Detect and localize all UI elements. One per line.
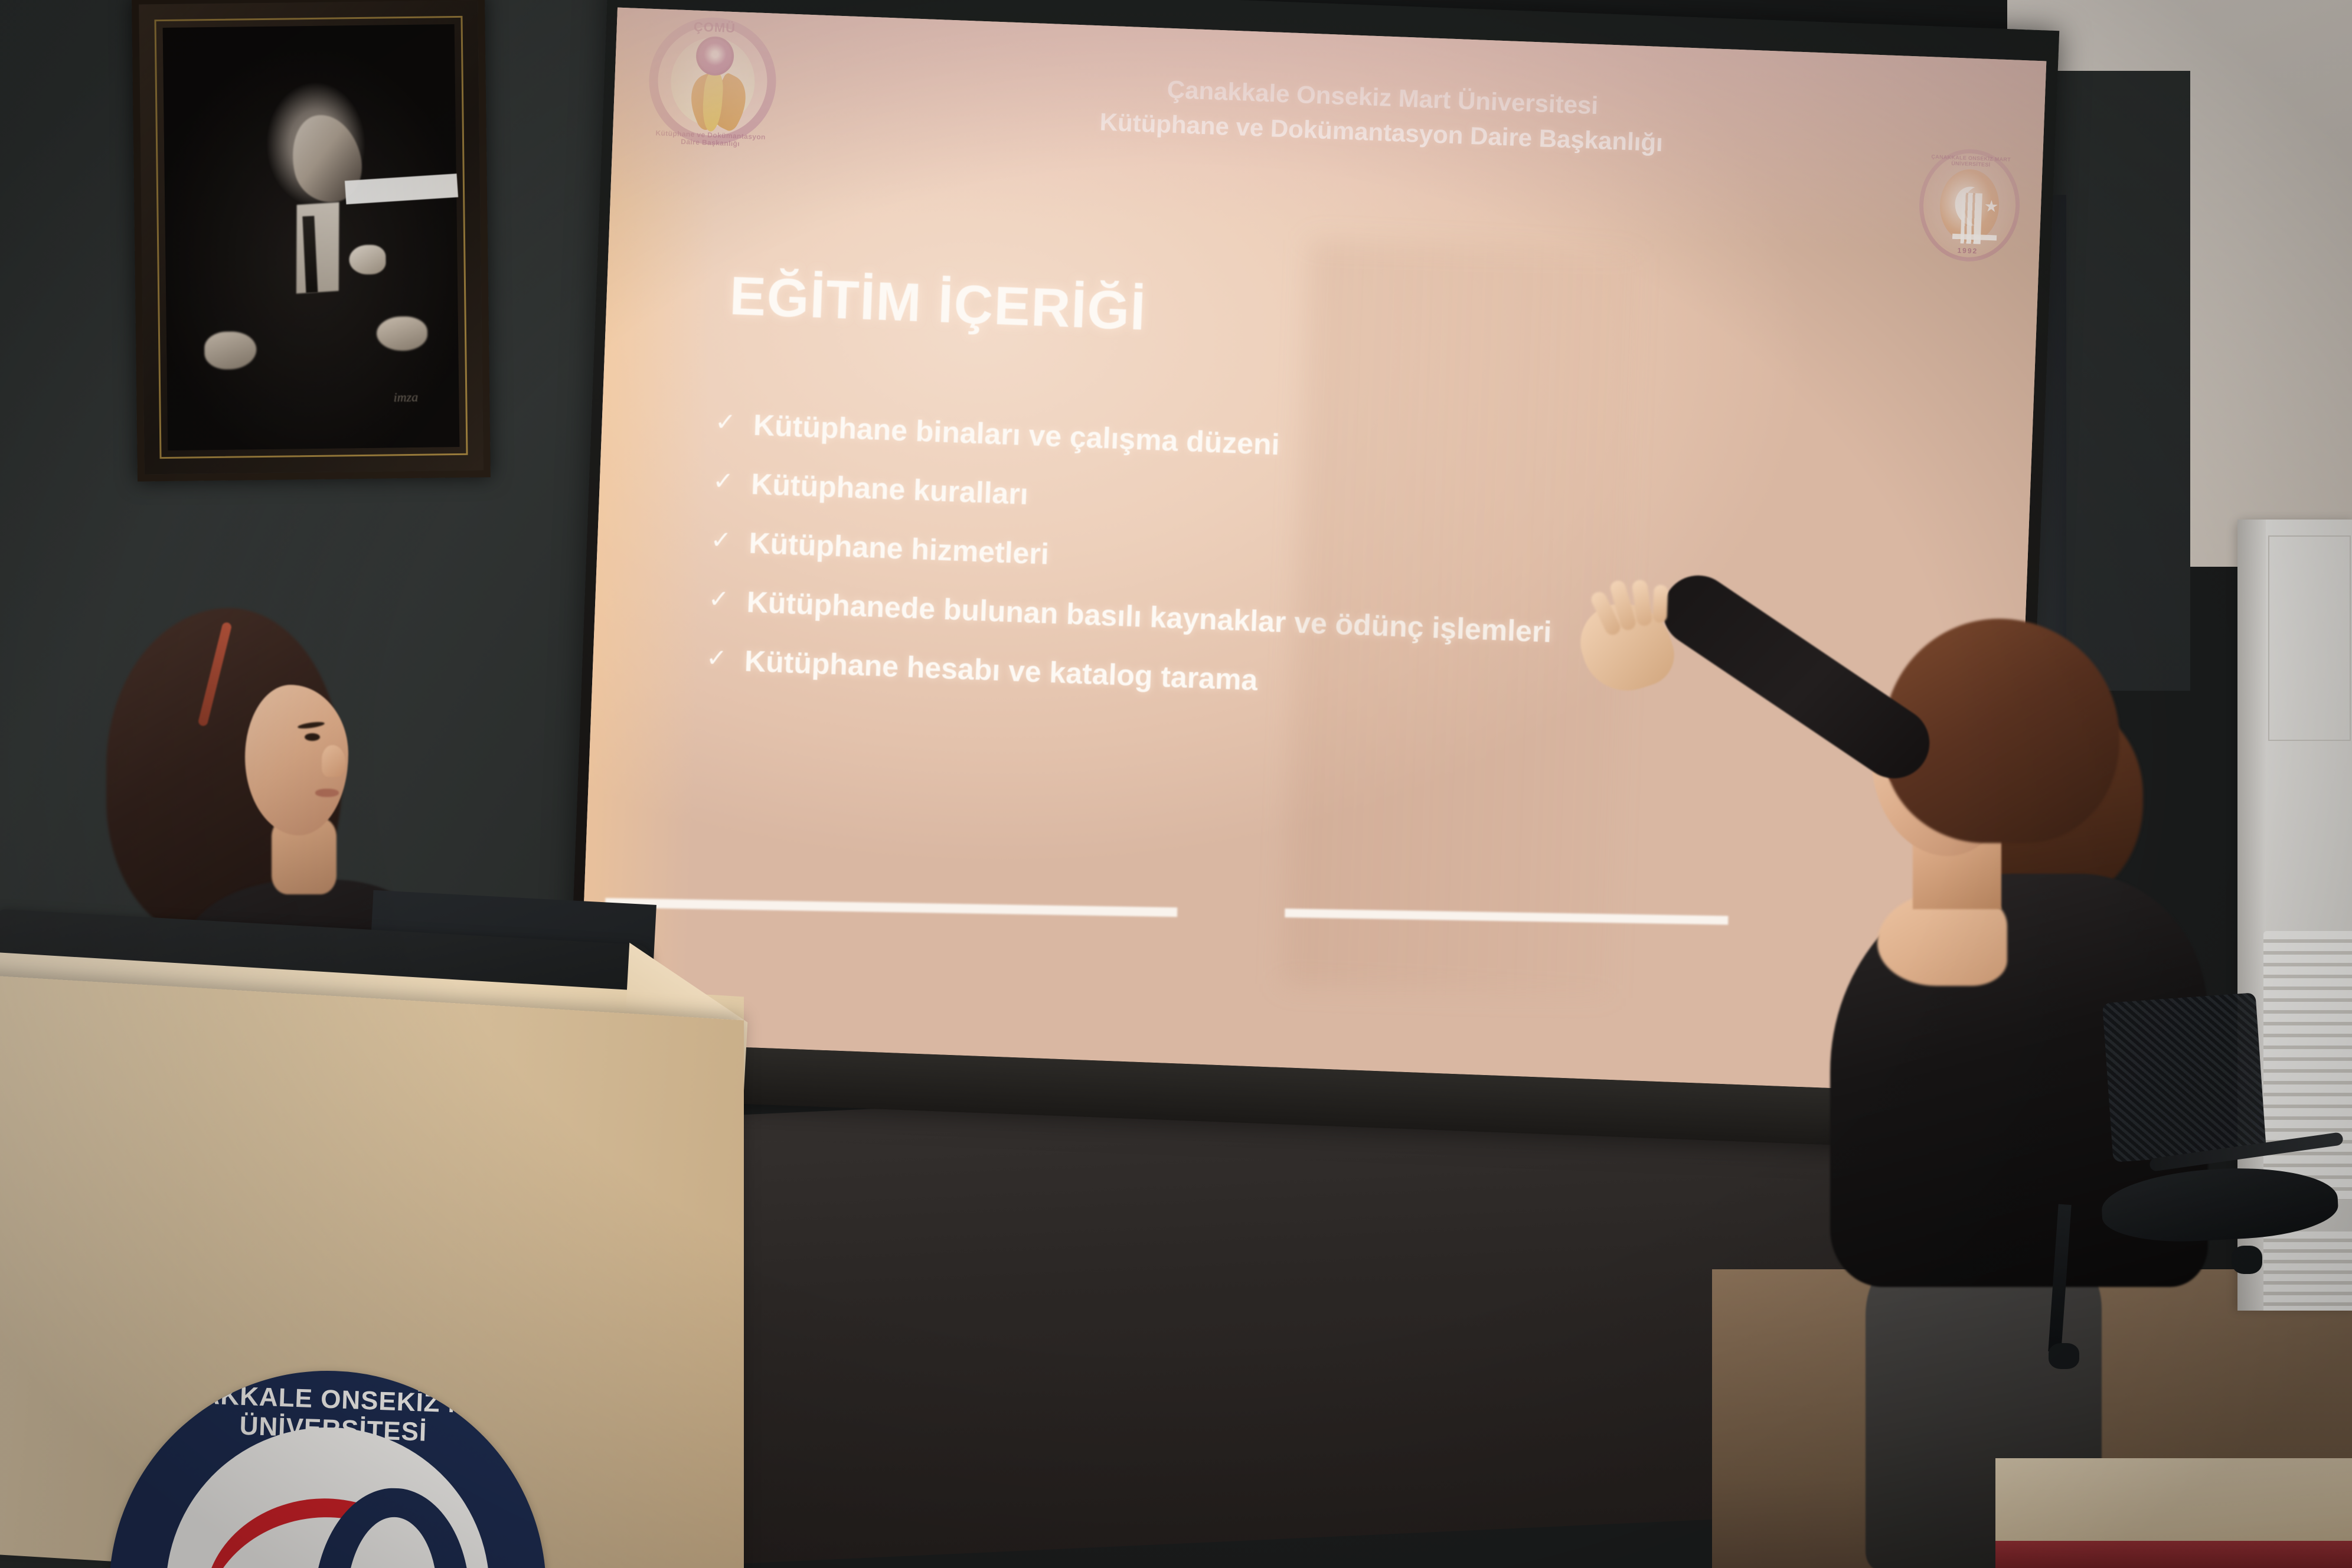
finger (1652, 584, 1668, 623)
portrait-signature: imza (393, 390, 418, 406)
portrait-glass-glare (345, 174, 458, 204)
logo-arc-text: Kütüphane ve Dokümantasyon Daire Başkanl… (647, 129, 775, 149)
checkmark-icon: ✓ (705, 642, 727, 674)
portrait-left-hand (204, 331, 257, 370)
department-logo: ÇOMÜ Kütüphane ve Dokümantasyon Daire Ba… (647, 15, 779, 146)
portrait-shirt (296, 202, 339, 293)
office-chair-back (2102, 992, 2266, 1162)
list-item-label: Kütüphane binaları ve çalışma düzeni (753, 408, 1280, 462)
list-item-label: Kütüphane kuralları (750, 467, 1028, 512)
checkmark-icon: ✓ (712, 466, 734, 498)
seal-year: 1992 (1922, 245, 2014, 257)
ataturk-portrait-frame: imza (132, 0, 491, 482)
list-item-label: Kütüphane hizmetleri (749, 526, 1050, 571)
list-item-label: Kütüphanede bulunan basılı kaynaklar ve … (746, 585, 1552, 649)
office-chair-caster (2232, 1246, 2262, 1274)
presenter-hand (1570, 590, 1682, 702)
portrait-right-hand (376, 316, 427, 351)
portrait-pipe (349, 245, 386, 275)
university-seal: ÇANAKKALE ONSEKİZ MART ÜNİVERSİTESİ 1992 (1917, 148, 2021, 263)
attendee-lips (315, 789, 339, 797)
seminar-room-photo: imza ÇOMÜ Kütüphane ve Dokümantasyon Dai… (0, 0, 2352, 1568)
side-table-edge (1995, 1541, 2352, 1568)
seal-arc-text: ÇANAKKALE ONSEKİZ MART ÜNİVERSİTESİ (1925, 153, 2017, 169)
ac-vent-grille (2263, 931, 2352, 1200)
checkmark-icon: ✓ (710, 524, 732, 556)
attendee-eye (305, 733, 320, 741)
slide-header: Çanakkale Onsekiz Mart Üniversitesi Kütü… (1099, 69, 1665, 161)
slide-title: EĞİTİM İÇERİĞİ (729, 265, 1147, 342)
ac-control-panel (2268, 535, 2351, 741)
checkmark-icon: ✓ (708, 583, 730, 615)
checkmark-icon: ✓ (714, 407, 736, 439)
list-item-label: Kütüphane hesabı ve katalog tarama (744, 644, 1258, 698)
ataturk-portrait-photo: imza (163, 24, 460, 450)
ac-lower-vent-grille (2263, 1231, 2352, 1311)
office-chair-caster (2049, 1343, 2079, 1369)
podium-university-logo: ÇANAKKALE ONSEKİZ MART ÜNİVERSİTESİ (102, 1363, 553, 1568)
